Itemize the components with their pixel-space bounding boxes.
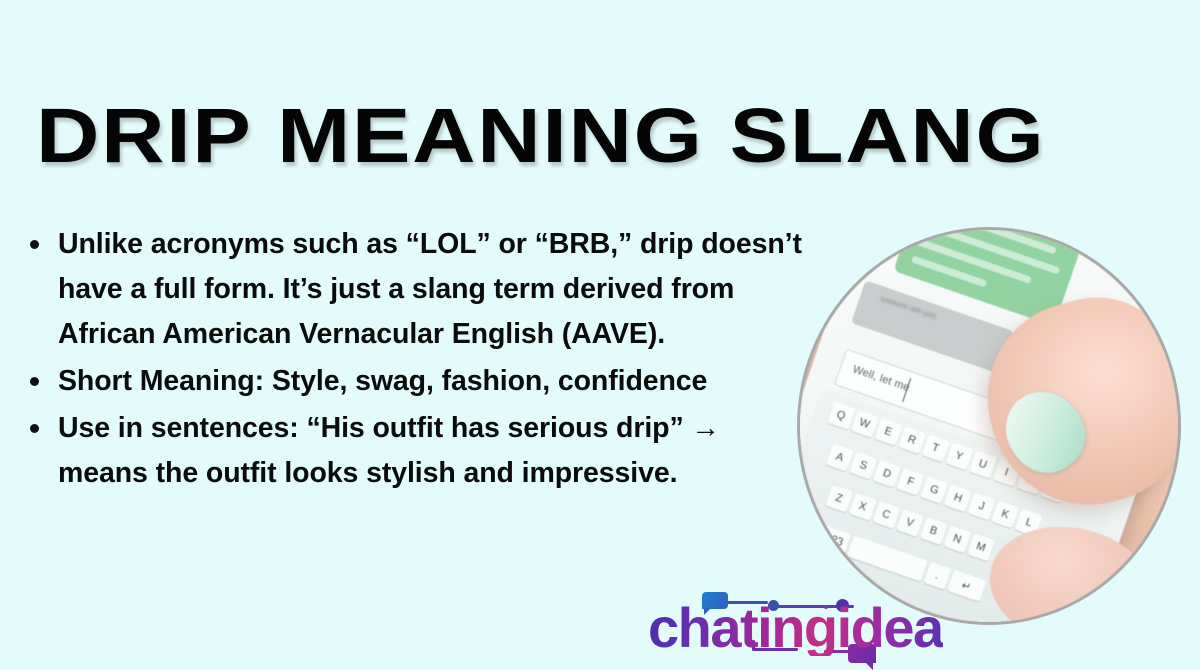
- key-y[interactable]: Y: [945, 443, 973, 471]
- key-v[interactable]: V: [895, 509, 923, 537]
- key-a[interactable]: A: [825, 443, 853, 471]
- key-r[interactable]: R: [897, 427, 925, 455]
- key-c[interactable]: C: [872, 501, 900, 529]
- key-x[interactable]: X: [848, 493, 876, 521]
- key-q[interactable]: Q: [826, 402, 854, 430]
- key-g[interactable]: G: [920, 476, 948, 504]
- key-s[interactable]: S: [849, 452, 877, 480]
- key-n[interactable]: N: [943, 525, 971, 553]
- key-k[interactable]: K: [991, 500, 1019, 528]
- list-item: Use in sentences: “His outfit has seriou…: [22, 406, 812, 496]
- chatingidea-logo[interactable]: chatingidea: [648, 592, 948, 664]
- key-space[interactable]: [846, 536, 927, 582]
- key-numeric[interactable]: ?123: [811, 524, 850, 556]
- key-h[interactable]: H: [944, 484, 972, 512]
- phone-typing-photo: someone with guts Well, let me Q W E R T…: [797, 227, 1181, 625]
- list-item-text: Short Meaning: Style, swag, fashion, con…: [58, 365, 707, 397]
- key-t[interactable]: T: [921, 435, 949, 463]
- key-u[interactable]: U: [968, 451, 996, 479]
- bullet-list: Unlike acronyms such as “LOL” or “BRB,” …: [22, 222, 812, 498]
- list-item-text: Use in sentences: “His outfit has seriou…: [58, 412, 720, 489]
- list-item-text: Unlike acronyms such as “LOL” or “BRB,” …: [58, 228, 802, 350]
- key-m[interactable]: M: [966, 534, 994, 562]
- key-f[interactable]: F: [896, 468, 924, 496]
- bullet-dot-icon: [30, 424, 39, 433]
- bullet-dot-icon: [30, 240, 39, 249]
- key-w[interactable]: W: [850, 410, 878, 438]
- page-title: DRIP MEANING SLANG: [36, 92, 1200, 180]
- key-z[interactable]: Z: [824, 485, 852, 513]
- key-j[interactable]: J: [967, 492, 995, 520]
- logo-wordmark: chatingidea: [648, 600, 943, 656]
- key-period[interactable]: .: [923, 562, 951, 590]
- bullet-dot-icon: [30, 377, 39, 386]
- photo-inner: someone with guts Well, let me Q W E R T…: [800, 230, 1178, 622]
- infographic-canvas: DRIP MEANING SLANG Unlike acronyms such …: [0, 0, 1200, 670]
- key-b[interactable]: B: [919, 517, 947, 545]
- key-enter[interactable]: ↵: [946, 570, 985, 602]
- list-item: Unlike acronyms such as “LOL” or “BRB,” …: [22, 222, 812, 357]
- key-e[interactable]: E: [874, 418, 902, 446]
- key-d[interactable]: D: [873, 460, 901, 488]
- list-item: Short Meaning: Style, swag, fashion, con…: [22, 359, 812, 404]
